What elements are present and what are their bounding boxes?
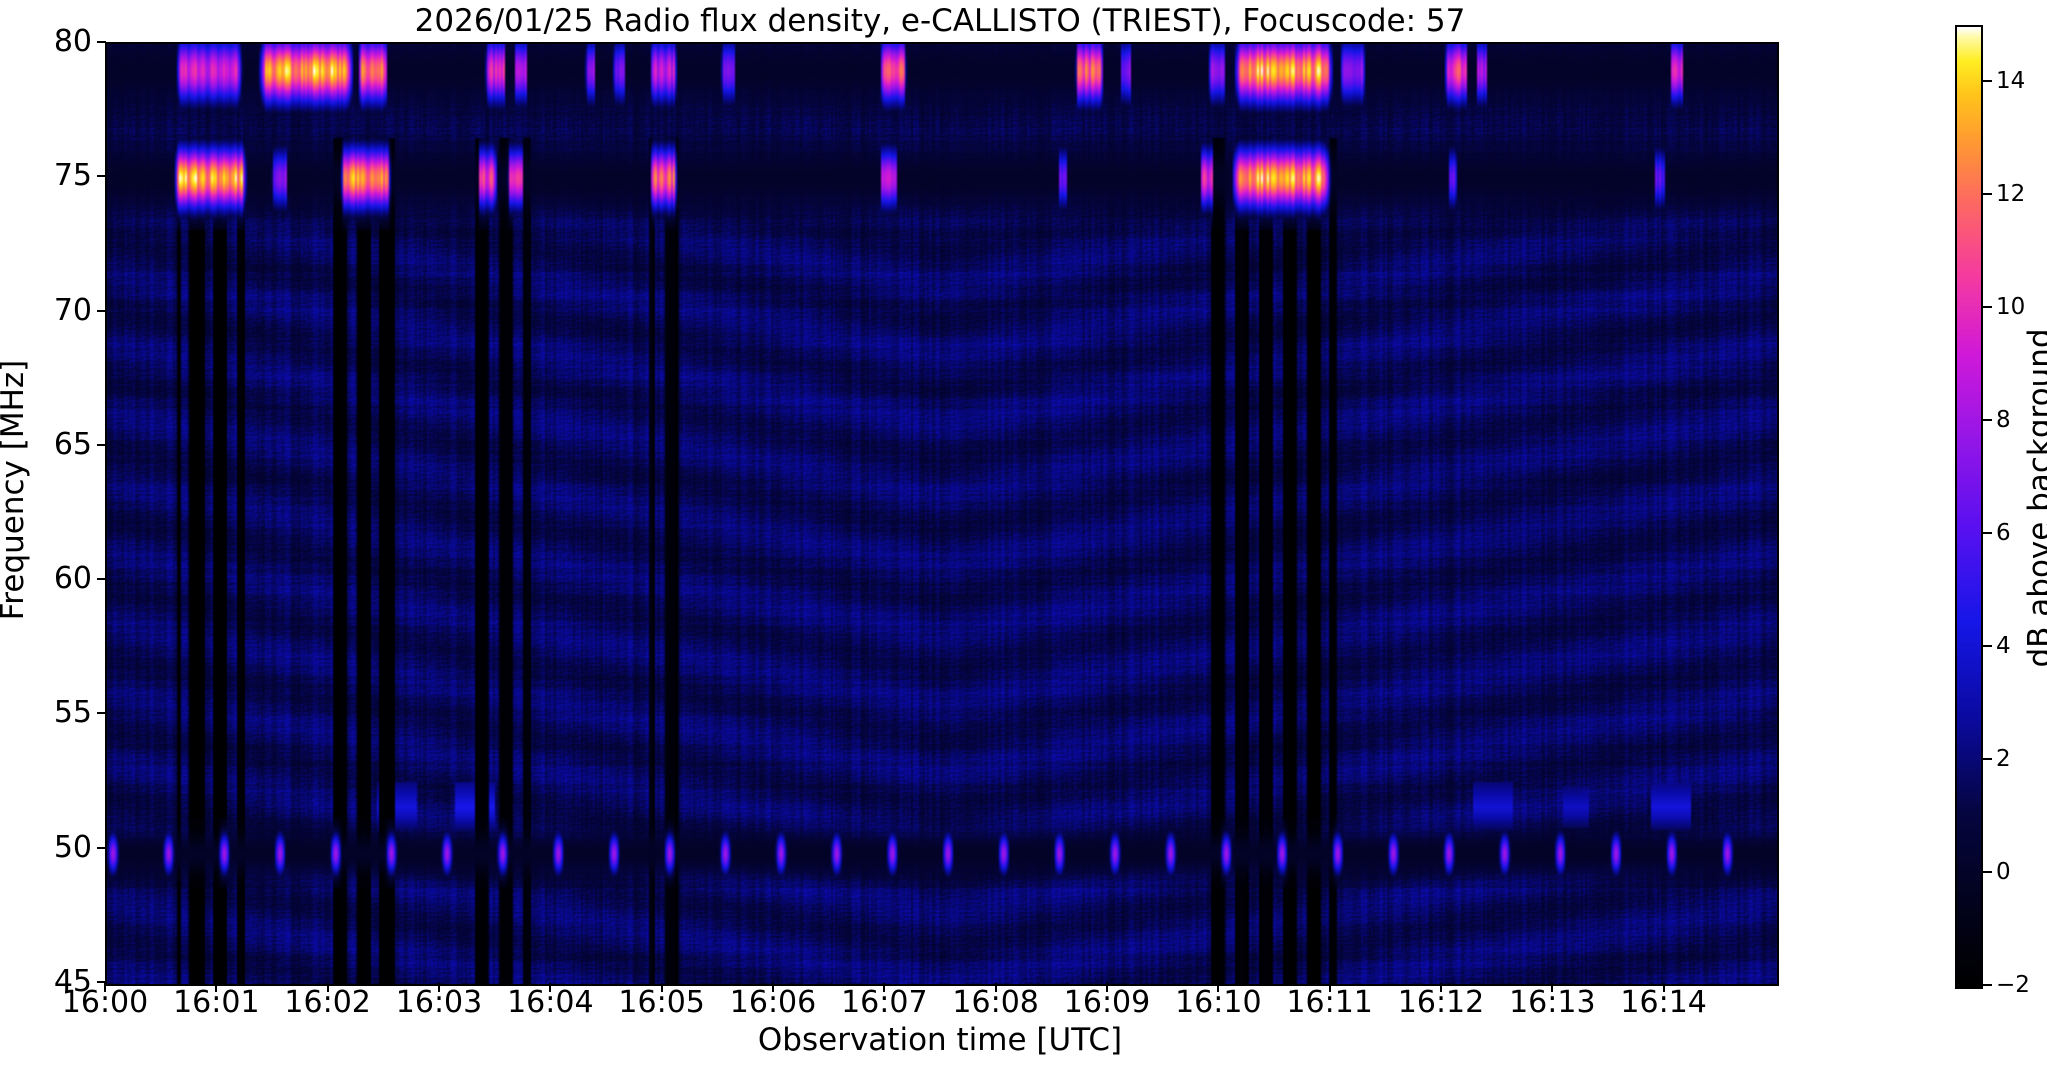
colorbar-tick-mark (1983, 193, 1992, 195)
y-tick-mark (97, 847, 106, 849)
colorbar-canvas (1957, 27, 1981, 987)
x-tick-mark (1217, 983, 1219, 992)
spectrogram-plot-area[interactable] (105, 42, 1779, 986)
y-tick-mark (97, 712, 106, 714)
y-tick-label: 55 (0, 698, 92, 728)
x-tick-mark (327, 983, 329, 992)
x-tick-mark (1663, 983, 1665, 992)
x-tick-mark (1329, 983, 1331, 992)
y-tick-label: 65 (0, 430, 92, 460)
x-tick-mark (772, 983, 774, 992)
y-tick-label: 60 (0, 564, 92, 594)
page-title: 2026/01/25 Radio flux density, e-CALLIST… (105, 2, 1775, 40)
colorbar[interactable] (1955, 25, 1983, 989)
y-tick-label: 50 (0, 833, 92, 863)
figure-root: 2026/01/25 Radio flux density, e-CALLIST… (0, 0, 2047, 1067)
colorbar-tick-mark (1983, 758, 1992, 760)
y-tick-label: 75 (0, 161, 92, 191)
colorbar-tick-label: 8 (1996, 409, 2047, 432)
colorbar-tick-mark (1983, 871, 1992, 873)
colorbar-tick-label: 4 (1996, 635, 2047, 658)
x-tick-mark (549, 983, 551, 992)
colorbar-tick-label: 10 (1996, 296, 2047, 319)
x-tick-label: 16:14 (1584, 988, 1744, 1018)
colorbar-tick-mark (1983, 80, 1992, 82)
colorbar-tick-label: 12 (1996, 183, 2047, 206)
y-tick-label: 70 (0, 296, 92, 326)
x-tick-mark (661, 983, 663, 992)
colorbar-tick-mark (1983, 306, 1992, 308)
y-axis-title: Frequency [MHz] (0, 90, 31, 890)
y-tick-mark (97, 175, 106, 177)
x-tick-mark (995, 983, 997, 992)
x-tick-mark (104, 983, 106, 992)
colorbar-tick-mark (1983, 984, 1992, 986)
colorbar-tick-label: 6 (1996, 522, 2047, 545)
colorbar-tick-label: 2 (1996, 748, 2047, 771)
colorbar-tick-label: 14 (1996, 70, 2047, 93)
x-tick-mark (1106, 983, 1108, 992)
colorbar-tick-label: −2 (1996, 974, 2047, 997)
y-tick-mark (97, 310, 106, 312)
colorbar-tick-mark (1983, 419, 1992, 421)
x-tick-mark (438, 983, 440, 992)
colorbar-tick-mark (1983, 645, 1992, 647)
spectrogram-canvas[interactable] (107, 44, 1777, 984)
x-tick-mark (883, 983, 885, 992)
x-tick-mark (1440, 983, 1442, 992)
y-tick-mark (97, 578, 106, 580)
colorbar-tick-mark (1983, 532, 1992, 534)
x-tick-mark (215, 983, 217, 992)
x-tick-mark (1551, 983, 1553, 992)
y-tick-mark (97, 41, 106, 43)
colorbar-title: dB above background (2022, 148, 2047, 848)
y-tick-label: 80 (0, 27, 92, 57)
x-axis-title: Observation time [UTC] (105, 1022, 1775, 1058)
y-tick-mark (97, 444, 106, 446)
colorbar-tick-label: 0 (1996, 861, 2047, 884)
